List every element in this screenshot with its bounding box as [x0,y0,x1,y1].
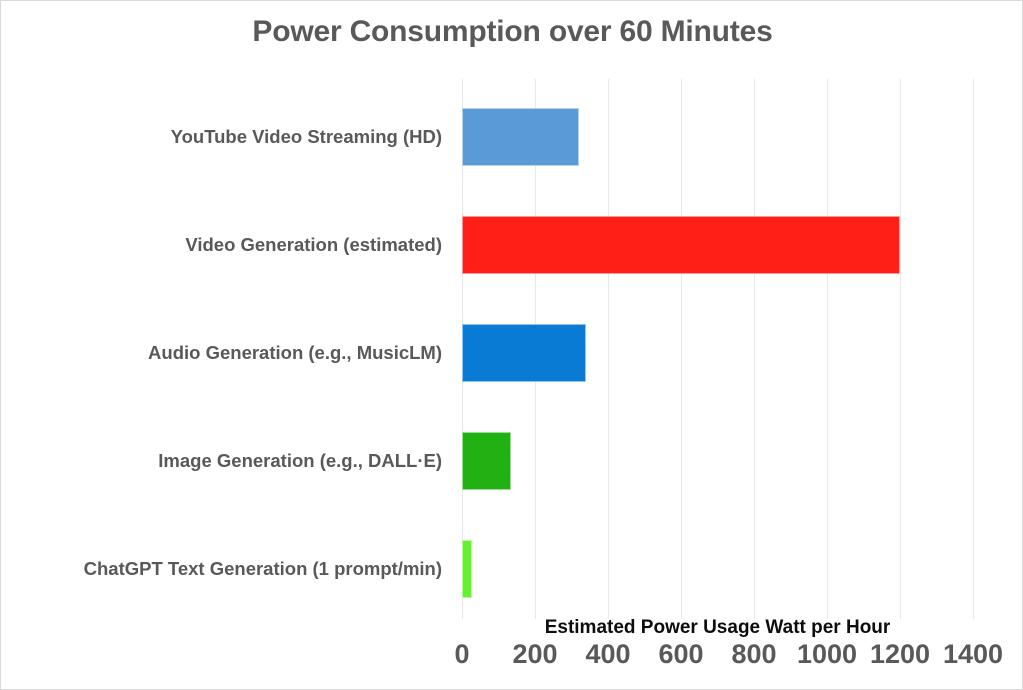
chart-row: YouTube Video Streaming (HD) [462,83,973,191]
bar[interactable] [462,216,900,274]
chart-row: Audio Generation (e.g., MusicLM) [462,299,973,407]
bar[interactable] [462,540,472,598]
x-tick-label: 400 [585,641,630,668]
category-label: YouTube Video Streaming (HD) [0,127,442,147]
bar[interactable] [462,432,511,490]
bar[interactable] [462,324,586,382]
x-tick-label: 200 [512,641,557,668]
x-axis-title: Estimated Power Usage Watt per Hour [462,617,973,639]
chart-container: Power Consumption over 60 Minutes YouTub… [0,0,1023,690]
plot-area: YouTube Video Streaming (HD)Video Genera… [462,79,973,619]
x-axis-tick-labels: 0200400600800100012001400 [1,641,1023,681]
x-tick-label: 1000 [797,641,857,668]
category-label: Image Generation (e.g., DALL·E) [0,451,442,471]
x-tick-label: 600 [658,641,703,668]
bar[interactable] [462,108,579,166]
category-label: Video Generation (estimated) [0,235,442,255]
chart-row: Video Generation (estimated) [462,191,973,299]
x-tick-label: 0 [454,641,469,668]
x-tick-label: 1200 [870,641,930,668]
category-label: Audio Generation (e.g., MusicLM) [0,343,442,363]
gridline-1400 [973,79,974,619]
x-tick-label: 1400 [943,641,1003,668]
chart-title: Power Consumption over 60 Minutes [1,15,1023,49]
chart-row: ChatGPT Text Generation (1 prompt/min) [462,515,973,623]
category-label: ChatGPT Text Generation (1 prompt/min) [0,559,442,579]
x-tick-label: 800 [731,641,776,668]
chart-row: Image Generation (e.g., DALL·E) [462,407,973,515]
